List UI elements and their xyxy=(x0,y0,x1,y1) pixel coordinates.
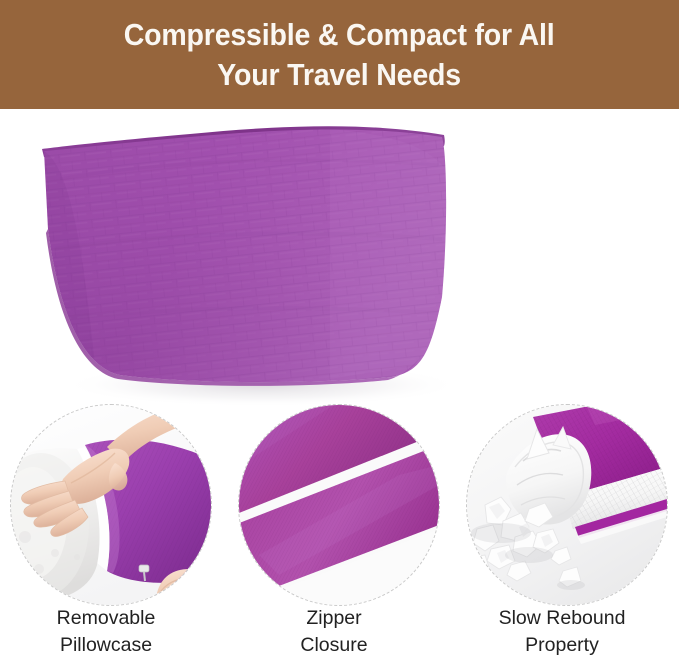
feature-2-image-wrap xyxy=(239,405,439,605)
feature-zipper-closure[interactable]: Zipper Closure xyxy=(222,400,446,668)
feature-3-circle xyxy=(467,405,667,605)
feature-1-caption: Removable Pillowcase xyxy=(0,605,218,659)
pillow-illustration xyxy=(0,109,679,429)
feature-2-circle xyxy=(239,405,439,605)
feature-slow-rebound-property[interactable]: Slow Rebound Property xyxy=(450,400,674,668)
feature-1-image-wrap xyxy=(11,405,211,605)
banner-title: Compressible & Compact for All Your Trav… xyxy=(106,15,574,94)
pillow-body xyxy=(30,119,460,399)
white-zipper-on-purple-fabric-photo xyxy=(239,405,439,605)
feature-2-caption: Zipper Closure xyxy=(222,605,446,659)
feature-3-caption: Slow Rebound Property xyxy=(450,605,674,659)
shredded-memory-foam-spill-photo xyxy=(467,405,667,605)
feature-removable-pillowcase[interactable]: Removable Pillowcase xyxy=(0,400,218,668)
hand-pressing-foam-core-photo xyxy=(11,405,211,605)
feature-1-circle xyxy=(11,405,211,605)
feature-row: Removable Pillowcase xyxy=(0,400,679,668)
feature-3-image-wrap xyxy=(467,405,667,605)
header-banner: Compressible & Compact for All Your Trav… xyxy=(0,0,679,109)
product-feature-infographic: Compressible & Compact for All Your Trav… xyxy=(0,0,679,668)
hero-product-image xyxy=(0,109,679,429)
